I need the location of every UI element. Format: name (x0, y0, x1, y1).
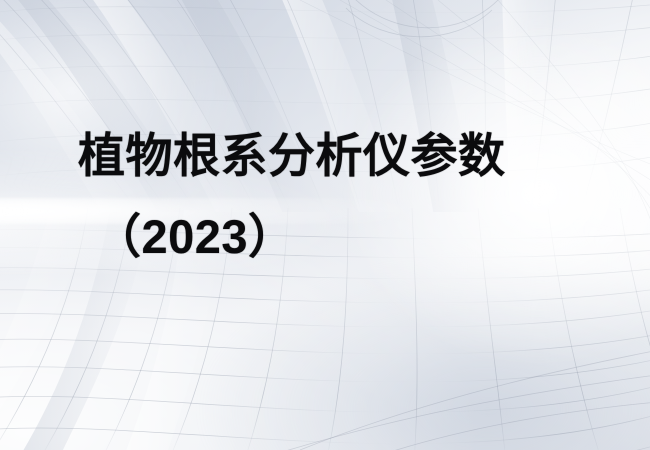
title-slide: 植物根系分析仪参数 （2023） (0, 0, 650, 450)
title-block: 植物根系分析仪参数 （2023） (0, 0, 650, 450)
slide-title-line-2: （2023） (94, 210, 296, 264)
slide-title-line-1: 植物根系分析仪参数 (78, 129, 506, 183)
